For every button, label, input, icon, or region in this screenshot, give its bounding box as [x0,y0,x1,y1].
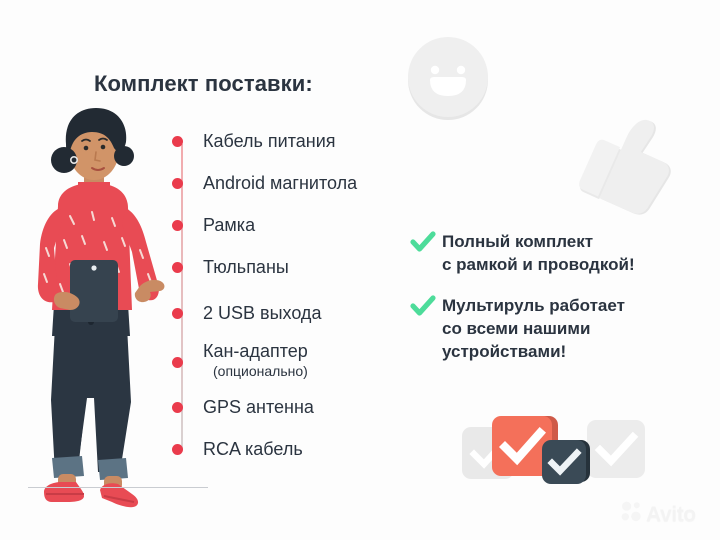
checkbox-dark-icon [542,440,586,484]
list-item-label: GPS антенна [203,396,314,418]
list-item: Рамка [172,214,255,236]
bullet-dot-icon [172,357,183,368]
checkbox-gray-icon [587,420,645,478]
bullet-dot-icon [172,220,183,231]
delivery-items-list: Кабель питания Android магнитола Рамка Т… [172,130,412,460]
list-item-label: 2 USB выхода [203,302,321,324]
benefit-label: Полный комплект с рамкой и проводкой! [442,230,635,276]
list-item: 2 USB выхода [172,302,321,324]
check-icon [410,293,436,319]
list-item-label: Рамка [203,214,255,236]
benefits-list: Полный комплект с рамкой и проводкой! Му… [410,230,690,381]
bullet-dot-icon [172,136,183,147]
list-item: Кабель питания [172,130,336,152]
page-title: Комплект поставки: [94,71,313,97]
bullet-dot-icon [172,402,183,413]
bullet-dot-icon [172,444,183,455]
bullet-dot-icon [172,178,183,189]
list-item-label: Кабель питания [203,130,336,152]
benefit-item: Полный комплект с рамкой и проводкой! [410,230,690,276]
promo-card: Комплект поставки: [0,0,720,540]
list-item: Кан-адаптер (опционально) [172,340,308,381]
list-item: GPS антенна [172,396,314,418]
ground-line [28,487,208,488]
checkbox-cluster-decoration [458,410,628,490]
avito-logo-icon [620,500,643,528]
list-item: Android магнитола [172,172,357,194]
avito-wordmark: Avito [646,504,696,525]
list-item-label: RCA кабель [203,438,303,460]
bullet-dot-icon [172,308,183,319]
list-item-label: Android магнитола [203,172,357,194]
list-item-label: Кан-адаптер (опционально) [203,340,308,381]
avito-watermark: Avito [620,500,696,528]
list-item-main: Кан-адаптер [203,341,308,361]
smiley-face-icon [404,34,492,122]
check-icon [410,229,436,255]
list-item: Тюльпаны [172,256,289,278]
bullet-dot-icon [172,262,183,273]
list-item-sublabel: (опционально) [213,362,308,381]
list-item: RCA кабель [172,438,303,460]
benefit-item: Мультируль работает со всеми нашими устр… [410,294,690,363]
list-item-label: Тюльпаны [203,256,289,278]
thumbs-up-icon [572,106,684,226]
woman-pointing-illustration [8,98,183,508]
benefit-label: Мультируль работает со всеми нашими устр… [442,294,625,363]
